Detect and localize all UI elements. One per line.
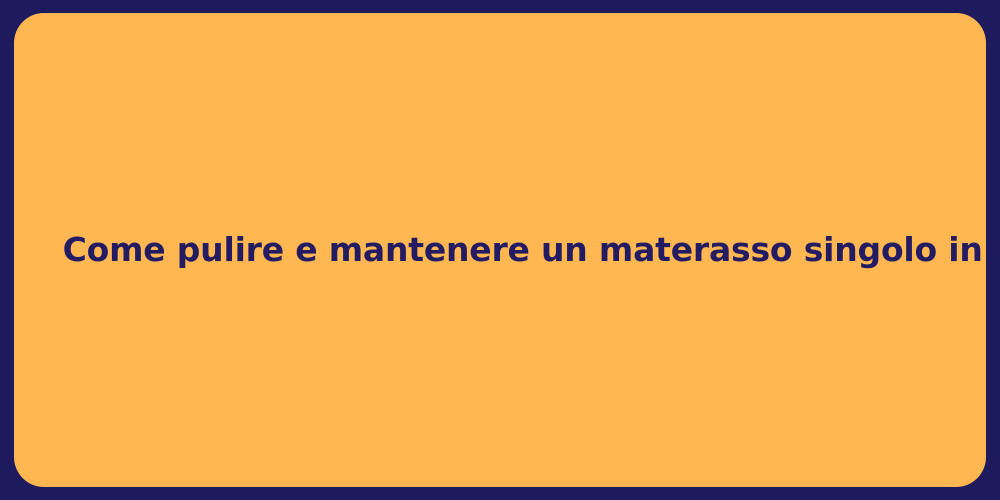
banner-frame: Come pulire e mantenere un materasso sin… <box>0 0 1000 500</box>
banner-panel: Come pulire e mantenere un materasso sin… <box>14 13 986 487</box>
page-title: Come pulire e mantenere un materasso sin… <box>63 228 938 273</box>
